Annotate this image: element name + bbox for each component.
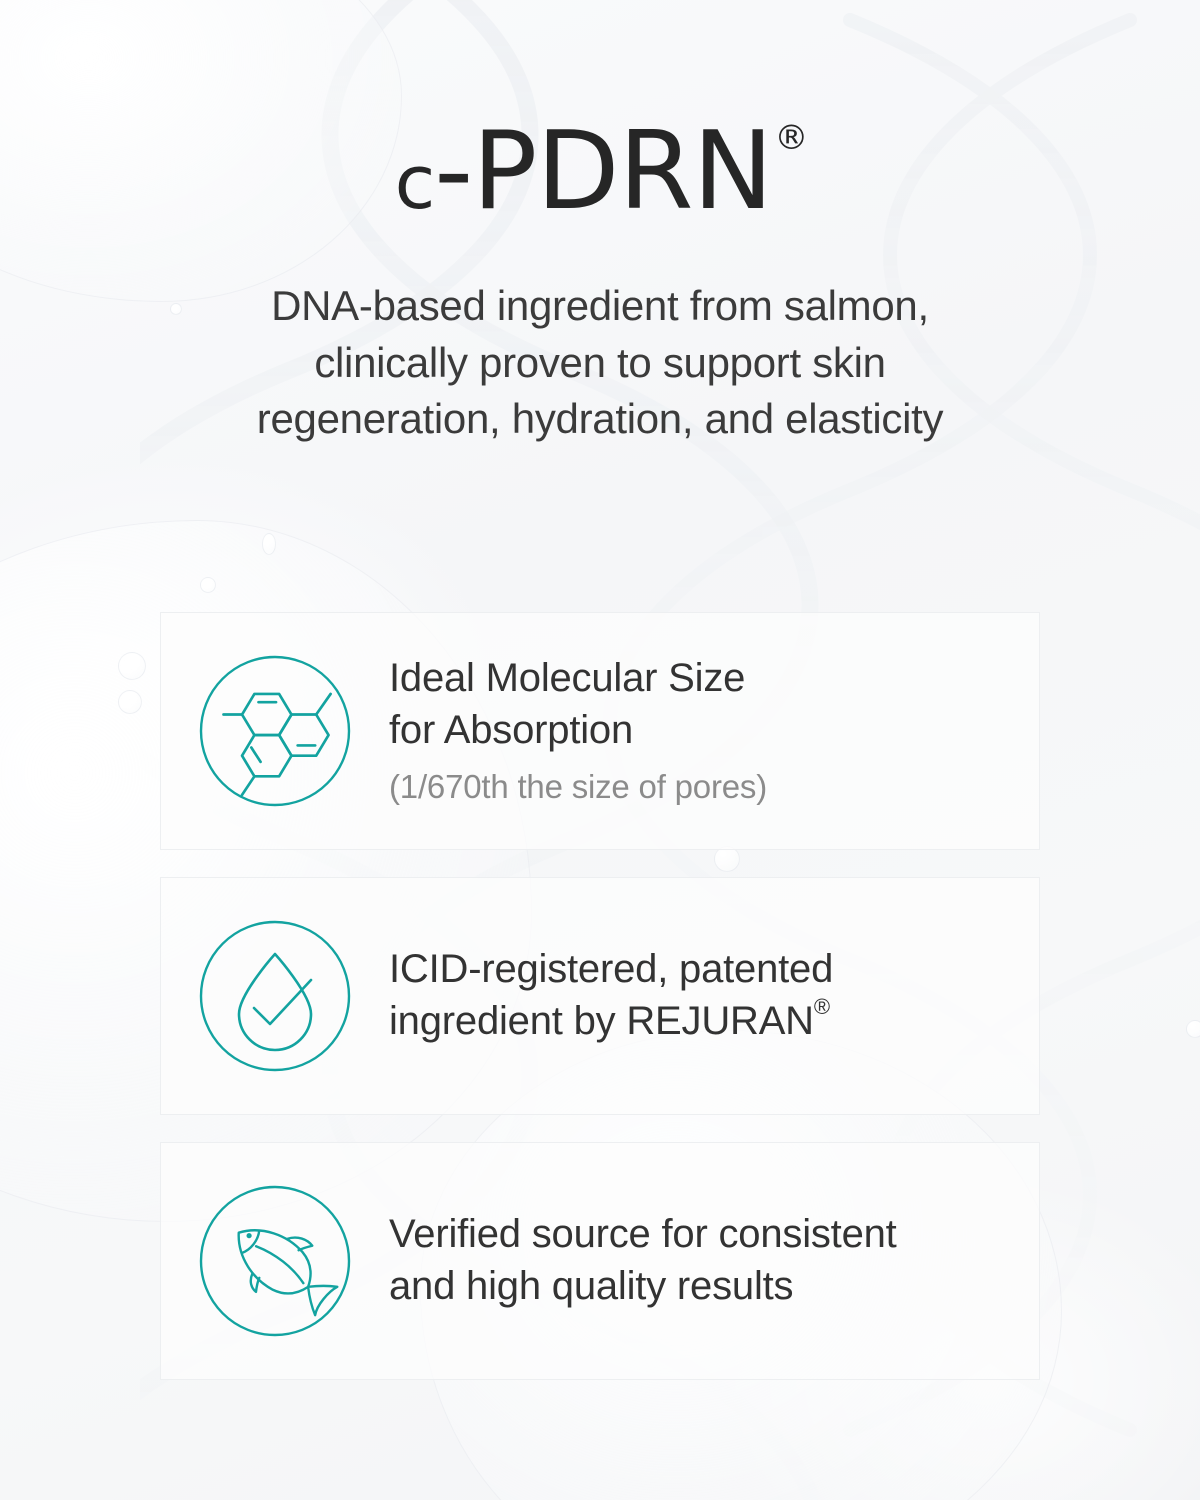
bubble-small-6 <box>1186 1020 1200 1038</box>
feature-card-heading: ICID-registered, patented ingredient by … <box>389 943 1015 1047</box>
feature-card-heading: Verified source for consistent and high … <box>389 1208 1015 1312</box>
feature-card-molecular-size: Ideal Molecular Size for Absorption (1/6… <box>160 612 1040 850</box>
bubble-small-1 <box>118 652 146 680</box>
subtitle-line-3: regeneration, hydration, and elasticity <box>0 391 1200 448</box>
water-drop-check-icon <box>199 920 351 1072</box>
heading-line-2-text: ingredient by REJURAN <box>389 999 814 1043</box>
page-title: c-PDRN® <box>0 0 1200 226</box>
feature-card-heading: Ideal Molecular Size for Absorption <box>389 652 1015 756</box>
heading-line-2: and high quality results <box>389 1260 1015 1312</box>
title-separator: - <box>434 109 472 234</box>
feature-card-text: Verified source for consistent and high … <box>389 1208 1015 1314</box>
title-prefix: c <box>395 140 435 226</box>
bubble-small-2 <box>118 690 142 714</box>
heading-line-2: for Absorption <box>389 704 1015 756</box>
feature-card-list: Ideal Molecular Size for Absorption (1/6… <box>160 612 1040 1380</box>
feature-card-icid-registered: ICID-registered, patented ingredient by … <box>160 877 1040 1115</box>
heading-line-1: Verified source for consistent <box>389 1208 1015 1260</box>
registered-trademark-icon: ® <box>774 118 807 158</box>
header: c-PDRN® DNA-based ingredient from salmon… <box>0 0 1200 448</box>
heading-line-1: ICID-registered, patented <box>389 943 1015 995</box>
bubble-small-3 <box>200 577 216 593</box>
registered-trademark-icon: ® <box>814 994 830 1019</box>
heading-line-1: Ideal Molecular Size <box>389 652 1015 704</box>
bubble-small-7 <box>262 533 276 555</box>
feature-card-note: (1/670th the size of pores) <box>389 766 1015 807</box>
fish-icon <box>199 1185 351 1337</box>
feature-card-text: ICID-registered, patented ingredient by … <box>389 943 1015 1049</box>
subtitle-line-2: clinically proven to support skin <box>0 335 1200 392</box>
subtitle-line-1: DNA-based ingredient from salmon, <box>0 278 1200 335</box>
heading-line-2: ingredient by REJURAN® <box>389 995 1015 1047</box>
feature-card-text: Ideal Molecular Size for Absorption (1/6… <box>389 652 1015 809</box>
feature-card-verified-source: Verified source for consistent and high … <box>160 1142 1040 1380</box>
subtitle: DNA-based ingredient from salmon, clinic… <box>0 226 1200 448</box>
molecule-icon <box>199 655 351 807</box>
product-infographic-page: c-PDRN® DNA-based ingredient from salmon… <box>0 0 1200 1500</box>
title-name: PDRN <box>472 109 772 234</box>
